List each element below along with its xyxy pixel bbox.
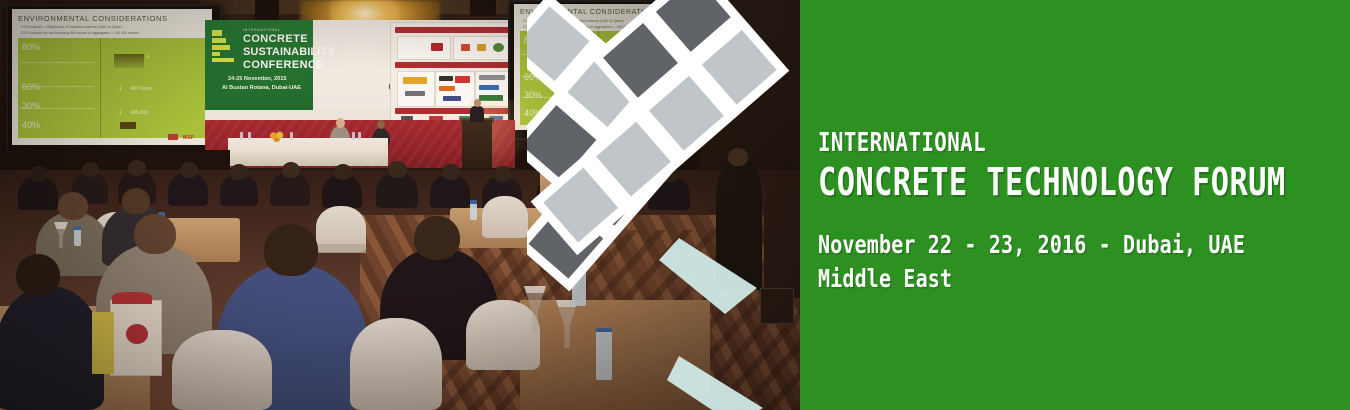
subhead-date-location: November 22 - 23, 2016 - Dubai, UAE [818, 228, 1234, 262]
subhead-region: Middle East [818, 262, 1234, 296]
event-banner: ENVIRONMENTAL CONSIDERATIONS CO2 footpri… [0, 0, 1350, 410]
headline-line2: CONCRETE TECHNOLOGY FORUM [818, 160, 1218, 204]
chevron-blocks-logo [527, 0, 827, 410]
subhead-block: November 22 - 23, 2016 - Dubai, UAE Midd… [818, 228, 1338, 296]
headline-line1: INTERNATIONAL [818, 128, 1218, 158]
headline-block: INTERNATIONAL CONCRETE TECHNOLOGY FORUM [818, 128, 1318, 204]
